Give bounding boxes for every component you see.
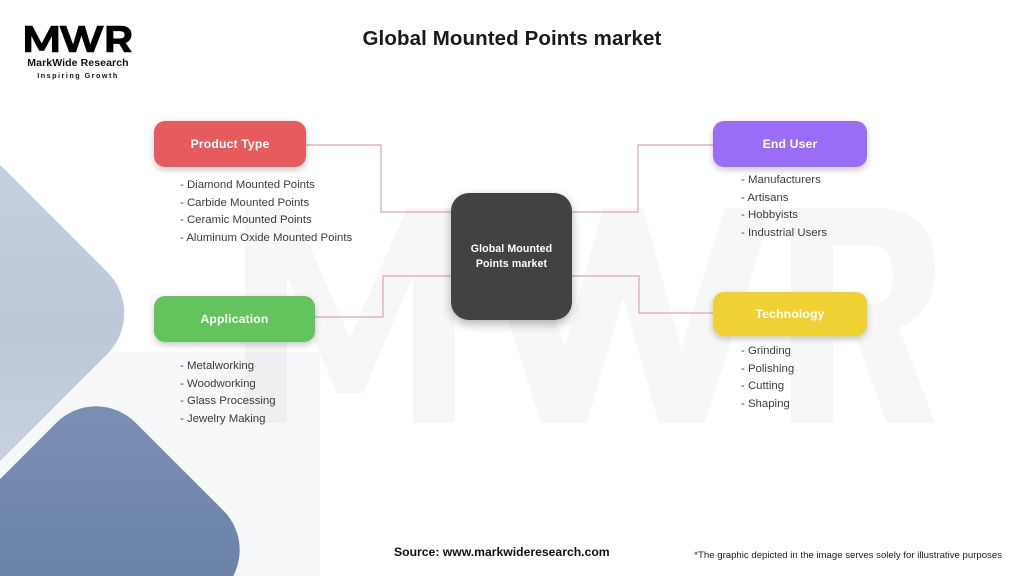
list-item: - Metalworking: [180, 358, 276, 376]
list-item: - Carbide Mounted Points: [180, 195, 352, 213]
list-item: - Hobbyists: [741, 207, 827, 225]
mindmap-diagram: Product Type End User Application Techno…: [0, 0, 1024, 576]
logo-tagline: Inspiring Growth: [18, 71, 138, 80]
node-product-type[interactable]: Product Type: [154, 121, 306, 167]
page-title: Global Mounted Points market: [0, 27, 1024, 51]
list-item: - Artisans: [741, 190, 827, 208]
list-item: - Jewelry Making: [180, 411, 276, 429]
logo-company-name: MarkWide Research: [18, 57, 138, 69]
footer-disclaimer: *The graphic depicted in the image serve…: [694, 550, 1002, 561]
list-item: - Manufacturers: [741, 172, 827, 190]
connector-technology: [572, 276, 713, 313]
node-end-user[interactable]: End User: [713, 121, 867, 167]
footer-source: Source: www.markwideresearch.com: [394, 545, 610, 559]
node-application[interactable]: Application: [154, 296, 315, 342]
node-end-user-label: End User: [763, 137, 818, 151]
list-item: - Polishing: [741, 361, 794, 379]
list-product-type: - Diamond Mounted Points - Carbide Mount…: [180, 177, 352, 247]
list-end-user: - Manufacturers - Artisans - Hobbyists -…: [741, 172, 827, 242]
list-item: - Grinding: [741, 343, 794, 361]
list-item: - Shaping: [741, 396, 794, 414]
list-item: - Diamond Mounted Points: [180, 177, 352, 195]
list-technology: - Grinding - Polishing - Cutting - Shapi…: [741, 343, 794, 413]
node-center-label: Global MountedPoints market: [471, 242, 552, 271]
node-application-label: Application: [200, 312, 268, 326]
list-item: - Woodworking: [180, 376, 276, 394]
list-application: - Metalworking - Woodworking - Glass Pro…: [180, 358, 276, 428]
list-item: - Industrial Users: [741, 225, 827, 243]
connector-application: [315, 276, 451, 317]
node-technology[interactable]: Technology: [713, 292, 867, 336]
node-center-market[interactable]: Global MountedPoints market: [451, 193, 572, 320]
list-item: - Cutting: [741, 378, 794, 396]
connector-end-user: [572, 145, 713, 212]
list-item: - Aluminum Oxide Mounted Points: [180, 230, 352, 248]
node-product-type-label: Product Type: [191, 137, 270, 151]
list-item: - Glass Processing: [180, 393, 276, 411]
node-technology-label: Technology: [756, 307, 825, 321]
list-item: - Ceramic Mounted Points: [180, 212, 352, 230]
